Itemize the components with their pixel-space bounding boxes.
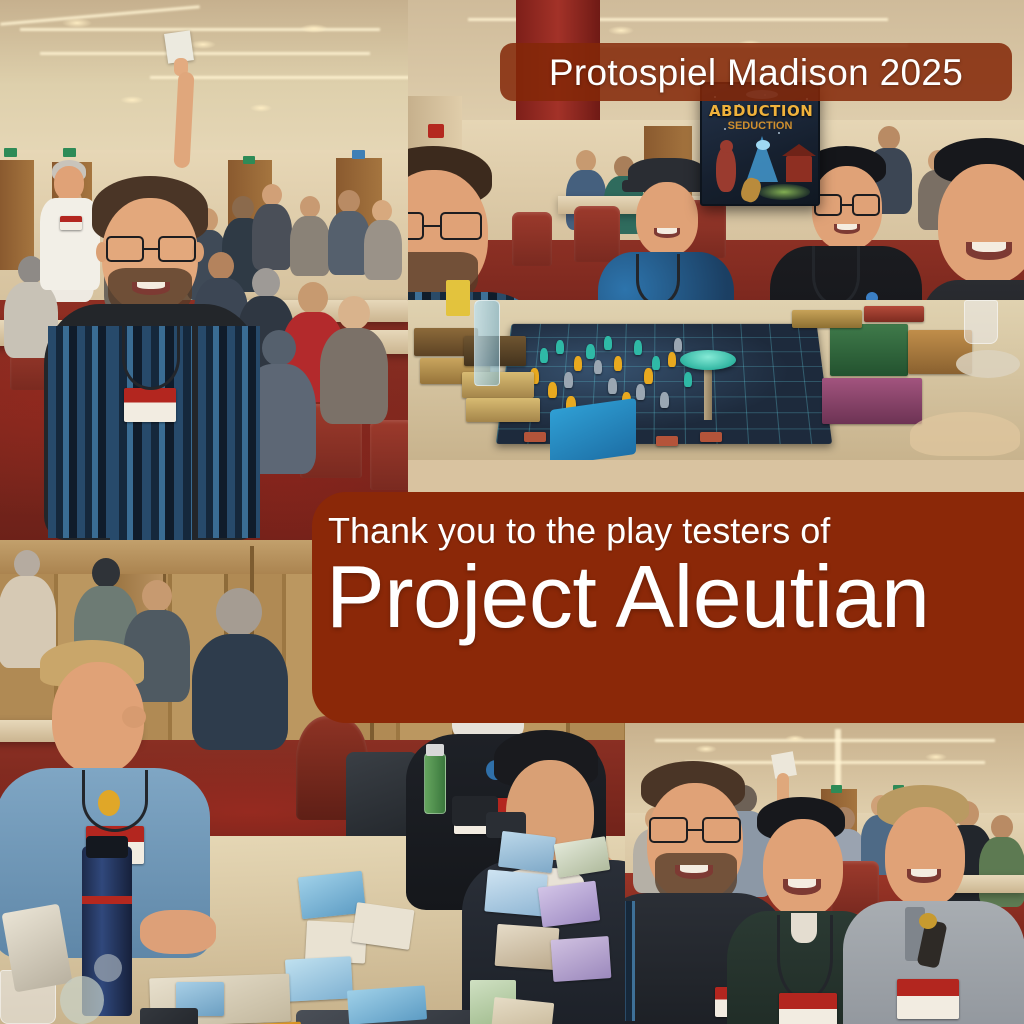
blue-dice-tray — [550, 398, 636, 460]
event-title-text: Protospiel Madison 2025 — [549, 54, 963, 91]
fire-alarm — [428, 124, 444, 138]
photo-panel-convention-hall-portrait — [0, 0, 408, 540]
name-badge — [124, 388, 176, 422]
event-title-banner: Protospiel Madison 2025 — [500, 43, 1012, 101]
game-board — [496, 324, 832, 444]
thank-you-overlay: Thank you to the play testers of Project… — [312, 492, 1024, 723]
project-title: Project Aleutian — [326, 552, 1024, 642]
lanyard-medallion — [98, 790, 120, 816]
ufo-tower-piece — [680, 350, 736, 370]
game-box-subtitle: SEDUCTION — [718, 120, 802, 132]
eyeglasses — [106, 236, 196, 262]
black-game-block — [140, 1008, 198, 1024]
water-bottle — [474, 300, 500, 386]
thank-you-line-1: Thank you to the play testers of — [328, 512, 1024, 550]
game-box-title: ABDUCTION — [709, 102, 811, 120]
photo-panel-three-friends-selfie — [625, 723, 1024, 1024]
collage-canvas: ABDUCTION SEDUCTION — [0, 0, 1024, 1024]
